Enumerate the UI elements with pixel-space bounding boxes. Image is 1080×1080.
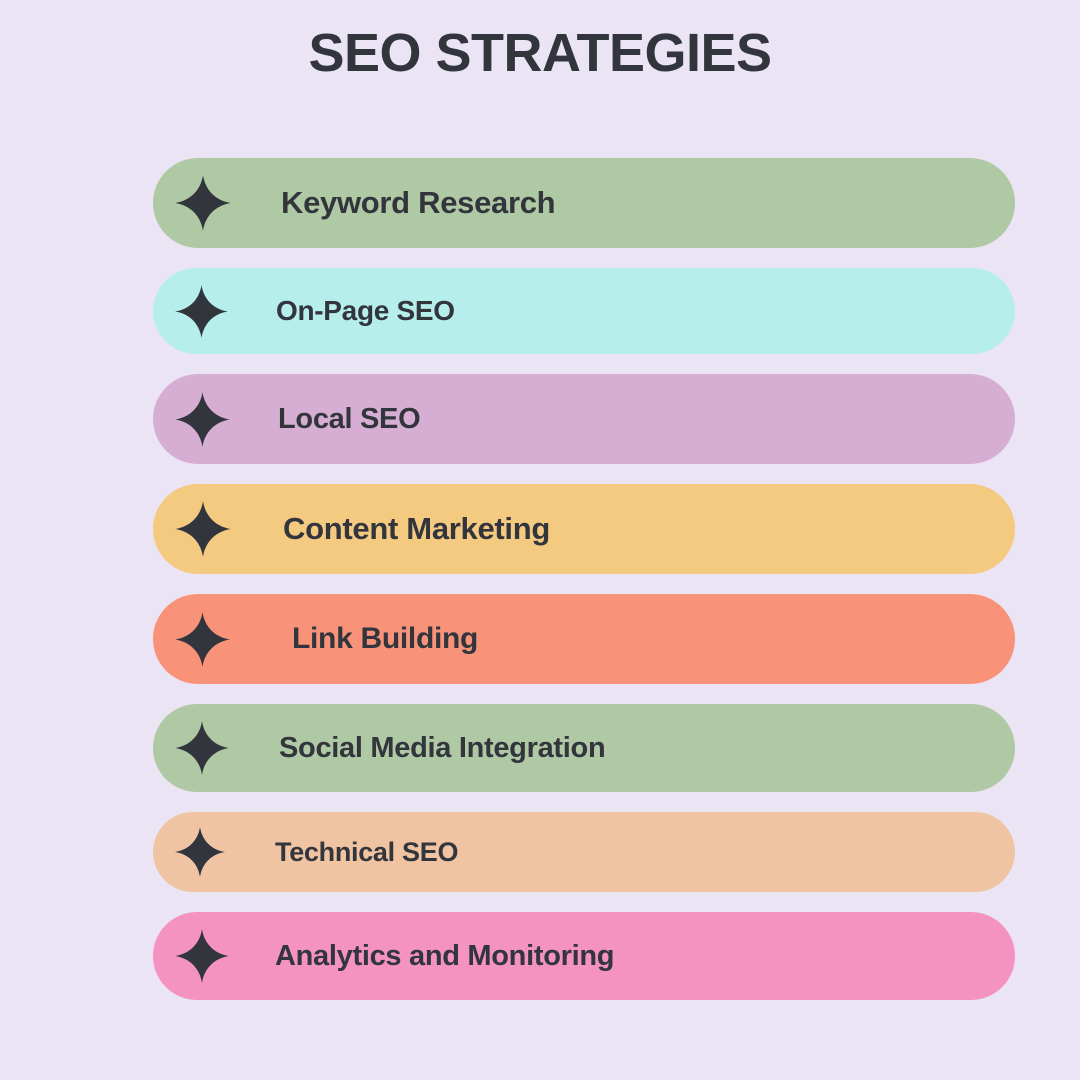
strategy-pill-label: Social Media Integration [279,732,605,765]
strategy-pill[interactable]: Content Marketing [153,484,1015,574]
strategy-pill[interactable]: Analytics and Monitoring [153,912,1015,1000]
strategy-pill[interactable]: Link Building [153,594,1015,684]
strategy-pill-label: Link Building [292,622,478,656]
strategy-pill[interactable]: Local SEO [153,374,1015,464]
sparkle-star-icon [153,826,247,878]
strategy-pill-label: Content Marketing [283,511,550,547]
sparkle-star-icon [153,500,253,558]
strategy-pill[interactable]: Technical SEO [153,812,1015,892]
strategy-pill-label: Technical SEO [275,837,458,868]
sparkle-star-icon [153,174,253,232]
sparkle-star-icon [153,284,250,339]
strategy-pill[interactable]: On-Page SEO [153,268,1015,354]
strategy-pill-label: Analytics and Monitoring [275,940,614,973]
sparkle-star-icon [153,928,251,984]
strategy-pill[interactable]: Social Media Integration [153,704,1015,792]
sparkle-star-icon [153,720,251,776]
strategy-list: Keyword ResearchOn-Page SEOLocal SEOCont… [0,158,1080,1020]
strategy-pill-label: On-Page SEO [276,295,455,327]
strategy-pill-label: Local SEO [278,403,420,436]
strategy-pill-label: Keyword Research [281,185,555,221]
strategy-pill[interactable]: Keyword Research [153,158,1015,248]
sparkle-star-icon [153,391,252,448]
page-title: SEO STRATEGIES [0,14,1080,92]
seo-strategies-poster: SEO STRATEGIES Keyword ResearchOn-Page S… [0,0,1080,1080]
sparkle-star-icon [153,611,252,668]
